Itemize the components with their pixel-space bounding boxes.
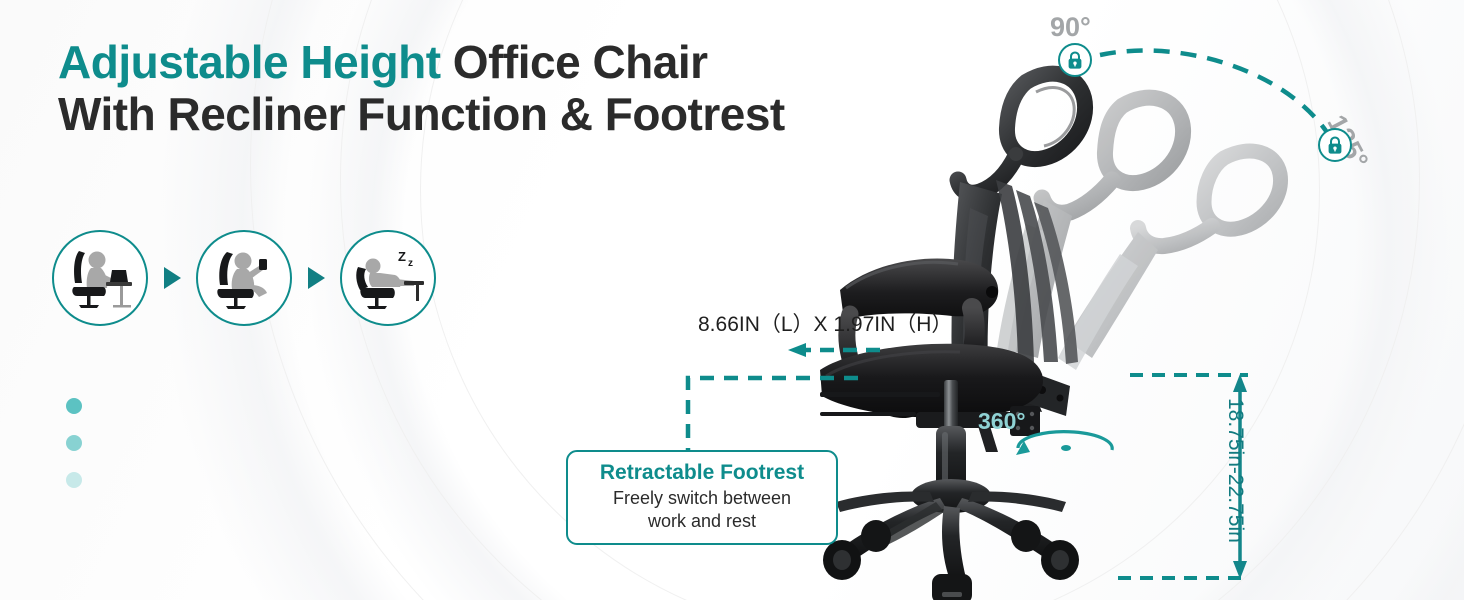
svg-text:Z: Z xyxy=(398,249,406,264)
posture-arrow-2 xyxy=(292,267,340,289)
padlock-icon xyxy=(1326,136,1344,155)
triangle-right-icon xyxy=(164,267,181,289)
posture-arrow-1 xyxy=(148,267,196,289)
height-range-label: 18.75in-22.75in xyxy=(1223,398,1247,543)
padlock-icon xyxy=(1066,51,1084,70)
angle-label-min: 90° xyxy=(1050,12,1091,43)
backrest-ghost-135 xyxy=(1058,151,1281,370)
callout-subtitle-line-1: Freely switch between xyxy=(578,488,826,510)
posture-icon-sleeping-footrest: Z z xyxy=(340,230,436,326)
headline-accent: Adjustable Height xyxy=(58,36,441,88)
callout-subtitle-line-2: work and rest xyxy=(578,511,826,533)
posture-icon-sitting-working xyxy=(52,230,148,326)
decorative-dot xyxy=(66,398,82,414)
decorative-dots xyxy=(66,398,82,509)
decorative-dot xyxy=(66,435,82,451)
sleeping-footrest-icon: Z z xyxy=(348,245,428,311)
posture-sequence: Z z xyxy=(52,230,436,326)
chair-base xyxy=(823,479,1079,600)
product-banner: Adjustable Height Office Chair With Recl… xyxy=(0,0,1464,600)
posture-icon-reclining xyxy=(196,230,292,326)
sitting-working-icon xyxy=(63,245,137,311)
headline-line-2-text: With Recliner Function & Footrest xyxy=(58,88,785,140)
lock-badge-min xyxy=(1058,43,1092,77)
footrest-dimension-label: 8.66IN（L）X 1.97IN（H） xyxy=(698,308,952,338)
decorative-dot xyxy=(66,472,82,488)
rotation-label: 360° xyxy=(978,408,1026,435)
reclining-icon xyxy=(207,245,281,311)
headline-rest: Office Chair xyxy=(441,36,708,88)
lock-badge-max xyxy=(1318,128,1352,162)
footrest-callout: Retractable Footrest Freely switch betwe… xyxy=(566,450,838,545)
svg-text:z: z xyxy=(408,258,413,269)
triangle-right-icon xyxy=(308,267,325,289)
footrest-extension-arrowhead xyxy=(788,343,806,357)
callout-title: Retractable Footrest xyxy=(578,460,826,486)
